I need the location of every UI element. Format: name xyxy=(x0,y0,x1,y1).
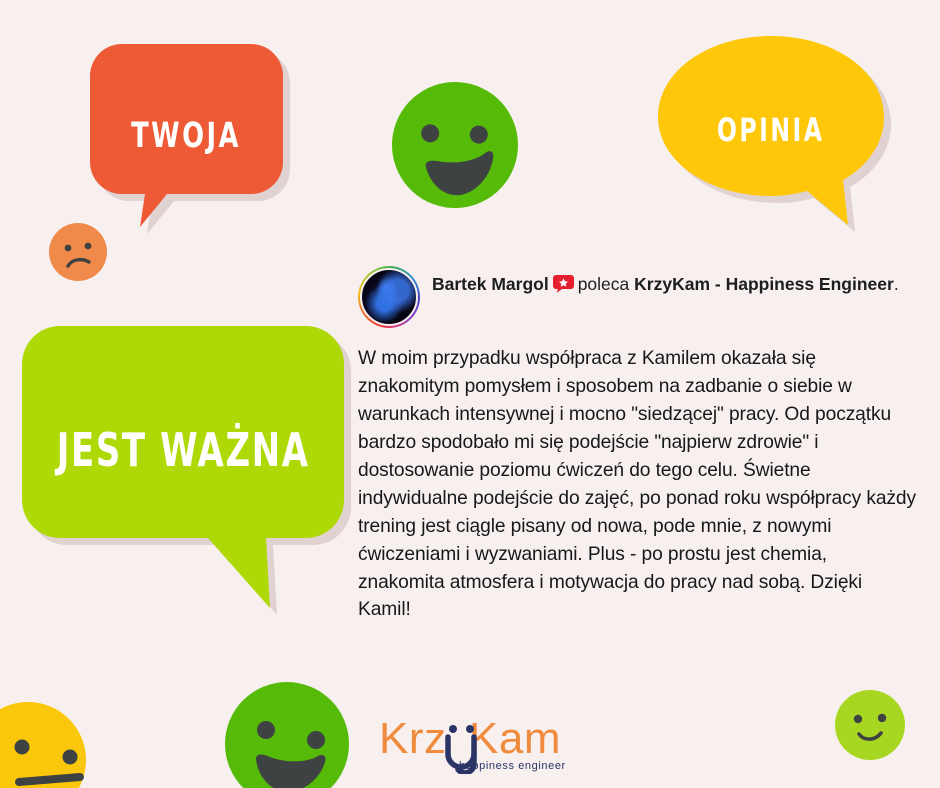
review-headline-suffix: . xyxy=(894,274,899,294)
review-headline: Bartek Margol poleca KrzyKam - Happiness… xyxy=(432,266,899,297)
speech-bubble-opinia-label: OPINIA xyxy=(717,111,825,149)
poster-canvas: TWOJA OPINIA JEST WAŻNA xyxy=(0,0,940,788)
review-recipient[interactable]: KrzyKam - Happiness Engineer xyxy=(634,274,894,294)
review-header: Bartek Margol poleca KrzyKam - Happiness… xyxy=(358,266,918,328)
review-body-text: W moim przypadku współpraca z Kamilem ok… xyxy=(358,345,918,624)
review-author[interactable]: Bartek Margol xyxy=(432,274,549,294)
emoji-face-green-small-smiling xyxy=(833,688,907,762)
review-card: Bartek Margol poleca KrzyKam - Happiness… xyxy=(358,266,918,624)
emoji-face-green-smiling-bottom xyxy=(222,682,352,788)
avatar xyxy=(360,268,418,326)
avatar-ring[interactable] xyxy=(358,266,420,328)
emoji-face-green-smiling xyxy=(388,78,523,213)
speech-bubble-twoja: TWOJA xyxy=(88,42,285,229)
logo-wordmark-part1: Krz xyxy=(379,714,447,763)
speech-bubble-jest-wazna: JEST WAŻNA xyxy=(18,322,348,612)
review-action: poleca xyxy=(578,274,630,294)
speech-bubble-opinia: OPINIA xyxy=(655,33,887,227)
speech-bubble-jest-wazna-label: JEST WAŻNA xyxy=(57,423,310,477)
logo-tagline: happiness engineer xyxy=(459,760,566,772)
recommend-badge-icon xyxy=(553,275,574,293)
speech-bubble-twoja-label: TWOJA xyxy=(132,116,242,156)
krzykam-logo[interactable]: KrzyKam happiness engineer xyxy=(379,714,569,780)
emoji-face-yellow-neutral xyxy=(0,697,96,788)
emoji-face-orange-sad xyxy=(47,221,109,283)
